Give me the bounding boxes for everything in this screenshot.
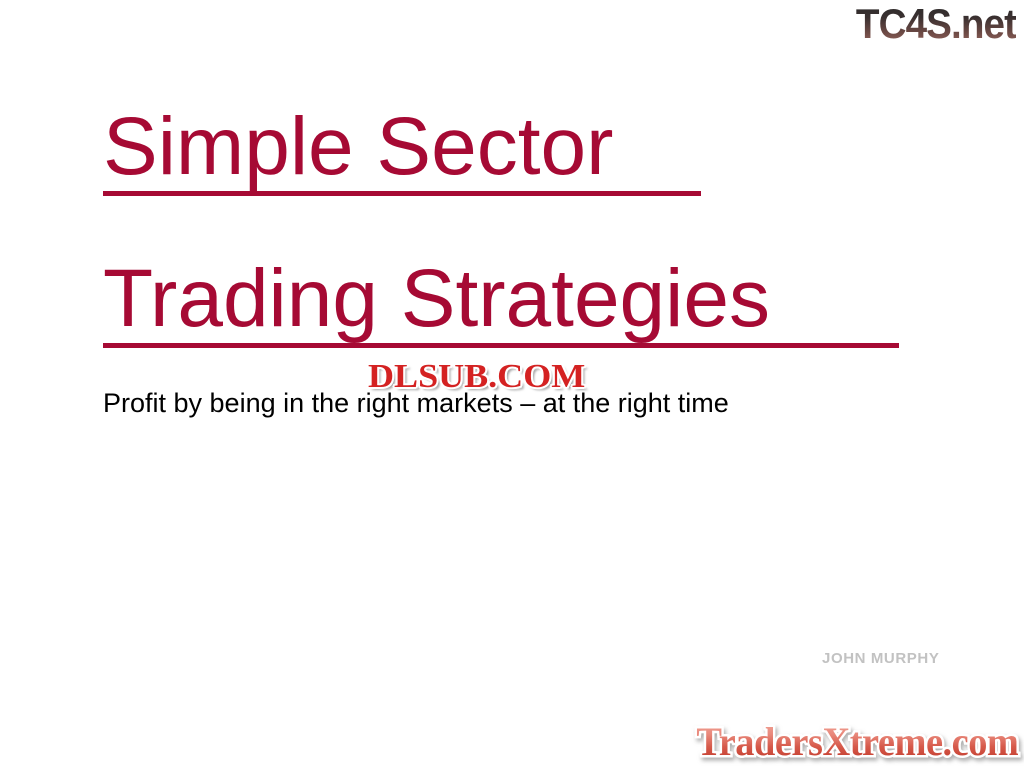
watermark-tradersxtreme: TradersXtreme.com TradersXtreme.com	[683, 722, 1018, 762]
slide-title-line-1: Simple Sector	[103, 106, 613, 188]
watermark-dlsub: DLSUB.COM	[368, 360, 585, 394]
watermark-tc4s: TC4S.net	[856, 2, 1016, 46]
title-underline-1	[103, 191, 701, 196]
presentation-slide: TC4S.net Simple Sector Trading Strategie…	[0, 0, 1024, 768]
slide-title-line-2: Trading Strategies	[103, 258, 770, 340]
title-underline-2	[103, 343, 899, 348]
watermark-tradersxtreme-fill: TradersXtreme.com	[696, 722, 1018, 762]
author-credit: JOHN MURPHY	[822, 651, 939, 666]
